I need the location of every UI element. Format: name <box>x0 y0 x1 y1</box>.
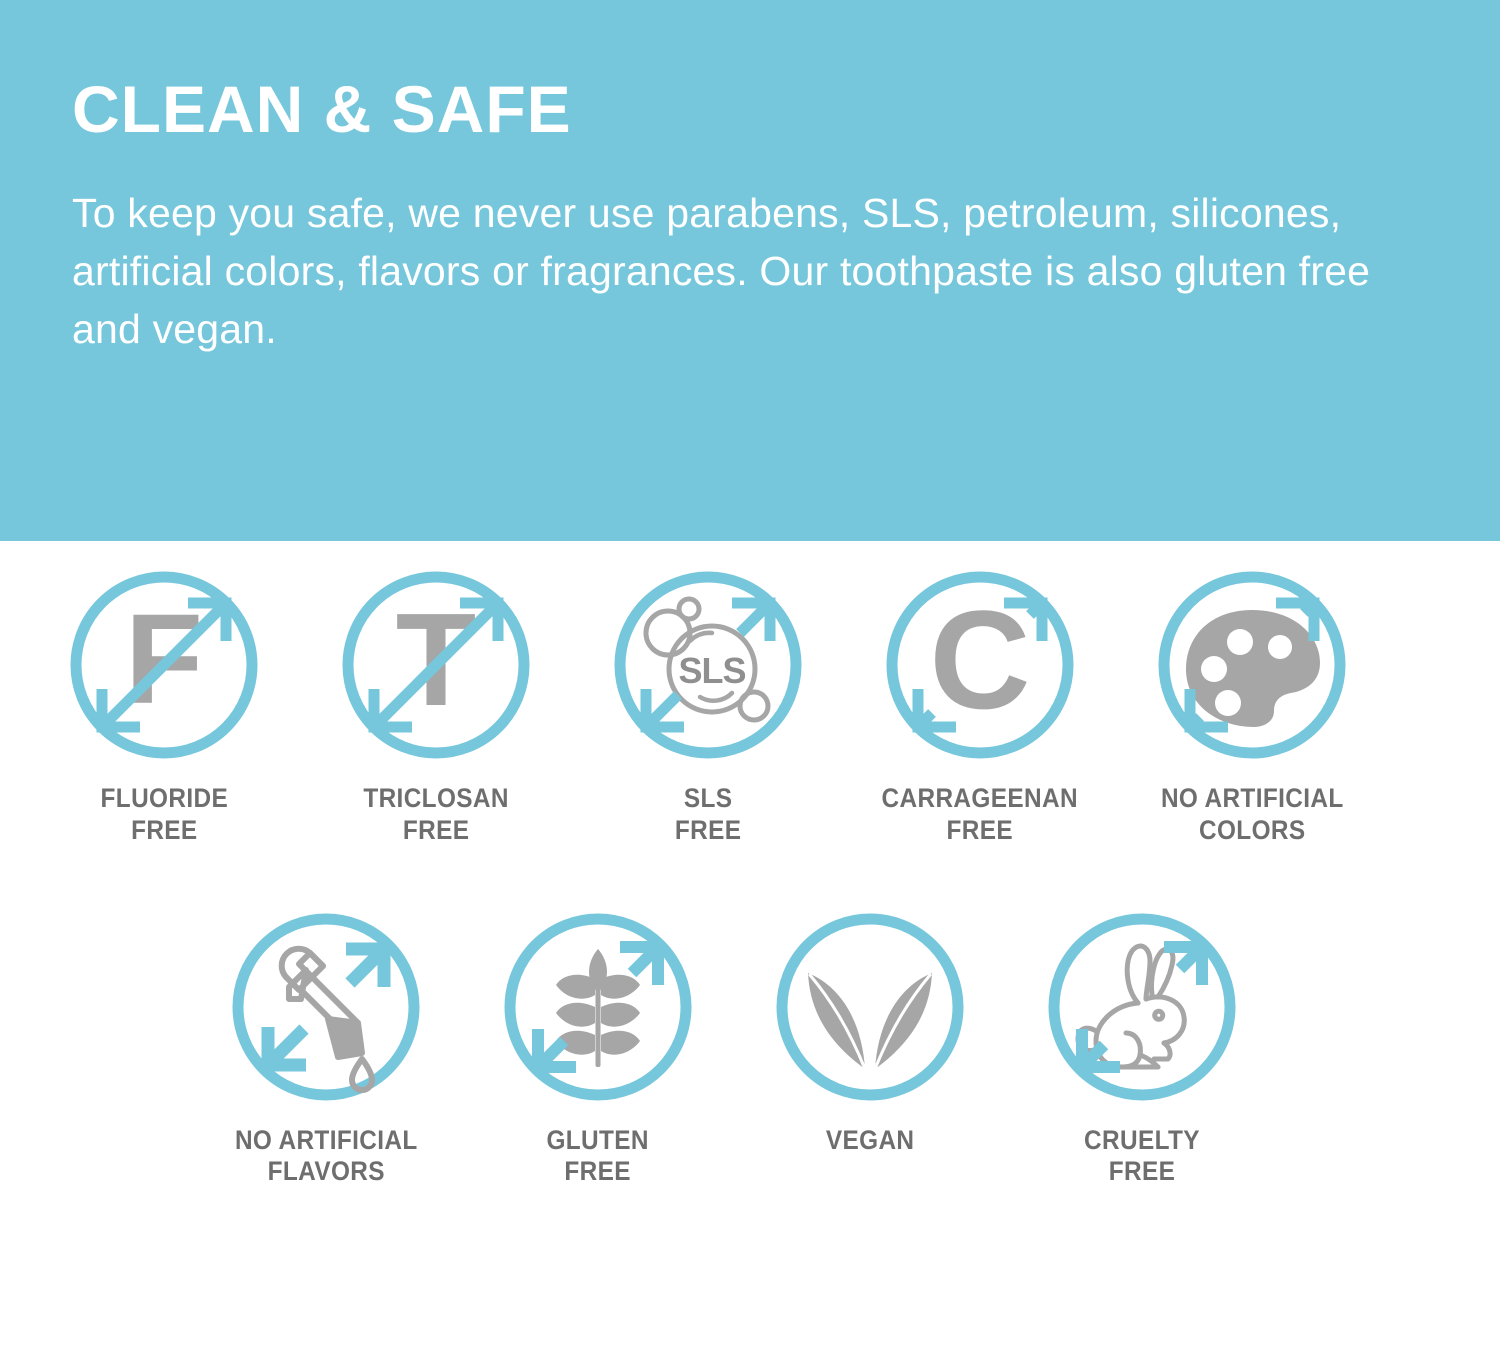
no-sls-icon: SLS <box>608 565 808 765</box>
no-artificial-flavors-dropper-icon <box>226 907 426 1107</box>
badge-label: CRUELTY FREE <box>1084 1125 1200 1189</box>
badge-label: NO ARTIFICIAL COLORS <box>1161 783 1344 847</box>
no-carrageenan-icon: C <box>880 565 1080 765</box>
badge-label: NO ARTIFICIAL FLAVORS <box>235 1125 418 1189</box>
no-artificial-colors-palette-icon <box>1152 565 1352 765</box>
badge-row-1: F FLUORIDE FREE T <box>0 565 1500 847</box>
badge-no-artificial-colors: NO ARTIFICIAL COLORS <box>1116 565 1388 847</box>
badge-triclosan-free: T TRICLOSAN FREE <box>300 565 572 847</box>
badge-label: FLUORIDE FREE <box>100 783 228 847</box>
badge-gluten-free: GLUTEN FREE <box>462 907 734 1189</box>
badge-carrageenan-free: C CARRAGEENAN FREE <box>844 565 1116 847</box>
certification-badges: F FLUORIDE FREE T <box>0 541 1500 1188</box>
svg-text:SLS: SLS <box>678 650 745 691</box>
header-banner: CLEAN & SAFE To keep you safe, we never … <box>0 0 1500 541</box>
badge-label: SLS FREE <box>675 783 741 847</box>
vegan-leaves-icon <box>770 907 970 1107</box>
badge-sls-free: SLS SLS FREE <box>572 565 844 847</box>
badge-label: CARRAGEENAN FREE <box>882 783 1078 847</box>
badge-fluoride-free: F FLUORIDE FREE <box>28 565 300 847</box>
badge-vegan: VEGAN <box>734 907 1006 1157</box>
no-triclosan-icon: T <box>336 565 536 765</box>
badge-label: TRICLOSAN FREE <box>363 783 509 847</box>
badge-no-artificial-flavors: NO ARTIFICIAL FLAVORS <box>190 907 462 1189</box>
badge-label: GLUTEN FREE <box>547 1125 649 1189</box>
header-description: To keep you safe, we never use parabens,… <box>72 184 1392 359</box>
badge-label: VEGAN <box>826 1125 915 1157</box>
no-fluoride-icon: F <box>64 565 264 765</box>
gluten-free-wheat-icon <box>498 907 698 1107</box>
badge-cruelty-free: CRUELTY FREE <box>1006 907 1278 1189</box>
page-title: CLEAN & SAFE <box>72 76 1428 142</box>
badge-row-2: NO ARTIFICIAL FLAVORS <box>0 907 1500 1189</box>
cruelty-free-rabbit-icon <box>1042 907 1242 1107</box>
